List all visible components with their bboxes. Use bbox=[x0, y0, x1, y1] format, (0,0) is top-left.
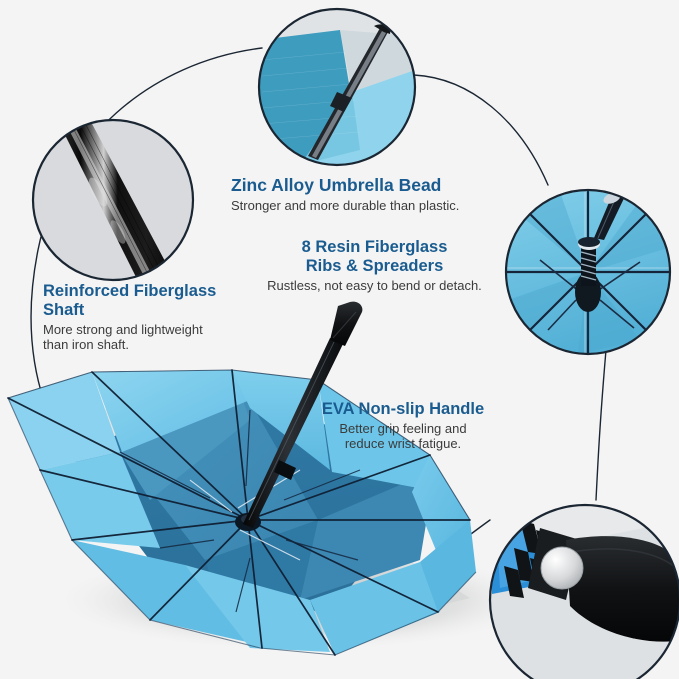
callout-zinc-bead-title: Zinc Alloy Umbrella Bead bbox=[231, 176, 531, 196]
callout-eva-handle: EVA Non-slip Handle Better grip feeling … bbox=[305, 400, 501, 451]
callout-fiberglass-shaft-title: Reinforced Fiberglass Shaft bbox=[43, 282, 253, 320]
callout-resin-ribs-desc: Rustless, not easy to bend or detach. bbox=[253, 278, 496, 294]
open-umbrella-product-photo bbox=[8, 302, 550, 655]
inset-fiberglass-shaft bbox=[33, 120, 193, 285]
inset-resin-ribs bbox=[506, 130, 670, 354]
callout-zinc-bead: Zinc Alloy Umbrella Bead Stronger and mo… bbox=[231, 176, 531, 214]
callout-resin-ribs: 8 Resin Fiberglass Ribs & Spreaders Rust… bbox=[253, 238, 496, 293]
inset-eva-handle bbox=[488, 503, 679, 679]
callout-zinc-bead-desc: Stronger and more durable than plastic. bbox=[231, 198, 531, 214]
callout-resin-ribs-title: 8 Resin Fiberglass Ribs & Spreaders bbox=[253, 238, 496, 276]
callout-fiberglass-shaft: Reinforced Fiberglass Shaft More strong … bbox=[43, 282, 253, 353]
callout-fiberglass-shaft-desc: More strong and lightweight than iron sh… bbox=[43, 322, 253, 353]
inset-zinc-bead bbox=[259, 9, 415, 165]
callout-eva-handle-title: EVA Non-slip Handle bbox=[305, 400, 501, 419]
infographic-canvas: Zinc Alloy Umbrella Bead Stronger and mo… bbox=[0, 0, 679, 679]
callout-eva-handle-desc: Better grip feeling and reduce wrist fat… bbox=[305, 421, 501, 452]
